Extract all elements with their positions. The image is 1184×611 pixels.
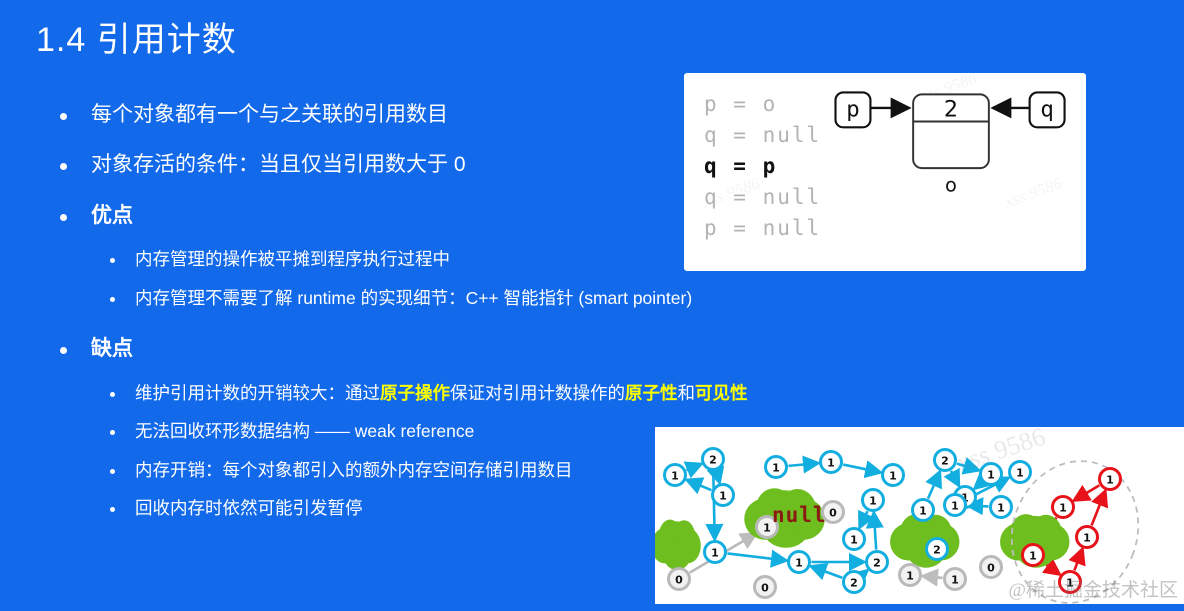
sub-bullet-text: 内存管理的操作被平摊到程序执行过程中: [135, 247, 450, 272]
graph-node: 1: [705, 542, 726, 563]
null-label: null: [772, 503, 827, 527]
graph-node: 1: [789, 552, 810, 573]
bullet-dot-icon: [110, 469, 115, 474]
bullet-dot-icon: [110, 297, 115, 302]
sub-bullet-text: 内存开销：每个对象都引入的额外内存空间存储引用数目: [135, 458, 573, 483]
text-segment: 保证对引用计数操作的: [450, 383, 625, 403]
graph-edge: [974, 482, 981, 488]
graph-node: 2: [867, 552, 888, 573]
highlight-atomic-operation: 原子操作: [380, 383, 450, 403]
bullet-dot-icon: [60, 163, 67, 170]
graph-node: 0: [669, 569, 690, 590]
text-segment: 和: [678, 383, 696, 403]
graph-node: 1: [1053, 497, 1074, 518]
svg-text:2: 2: [850, 577, 858, 590]
svg-text:2: 2: [941, 455, 949, 468]
graph-node: 0: [981, 557, 1002, 578]
sub-bullet-item-atomic: 维护引用计数的开销较大：通过原子操作保证对引用计数操作的原子性和可见性: [110, 381, 860, 406]
graph-edge: [843, 465, 881, 473]
graph-node: 1: [713, 485, 734, 506]
graph-edge: [1074, 485, 1100, 500]
bullet-item-disadvantages: 缺点: [60, 334, 860, 364]
highlight-visibility: 可见性: [695, 383, 748, 403]
svg-text:1: 1: [763, 522, 771, 535]
svg-text:1: 1: [795, 557, 803, 570]
graph-node: 2: [703, 449, 724, 470]
svg-text:1: 1: [1016, 467, 1024, 480]
svg-text:2: 2: [709, 454, 717, 467]
svg-text:0: 0: [675, 574, 683, 587]
pointer-object-diagram: p q 2 o: [684, 73, 1086, 271]
graph-edge: [859, 511, 867, 528]
graph-node: 1: [945, 569, 966, 590]
sub-bullet-text: 内存管理不需要了解 runtime 的实现细节：C++ 智能指针 (smart …: [135, 286, 692, 311]
graph-node: 2: [844, 572, 865, 593]
svg-text:0: 0: [761, 582, 769, 595]
graph-node: 1: [883, 465, 904, 486]
graph-cloud: [655, 520, 701, 571]
graph-edge: [874, 512, 876, 549]
svg-text:1: 1: [719, 490, 727, 503]
svg-text:1: 1: [772, 462, 780, 475]
bullet-dot-icon: [110, 392, 115, 397]
graph-node: 2: [927, 539, 948, 560]
graph-node: 1: [900, 565, 921, 586]
refcount-value: 2: [944, 97, 958, 123]
graph-edge: [951, 471, 959, 486]
svg-text:1: 1: [906, 570, 914, 583]
graph-node: 1: [1100, 469, 1121, 490]
bullet-text: 优点: [91, 201, 133, 231]
graph-node: 2: [935, 450, 956, 471]
svg-text:1: 1: [827, 457, 835, 470]
svg-text:1: 1: [997, 502, 1005, 515]
graph-node: 1: [1023, 545, 1044, 566]
highlight-atomicity: 原子性: [625, 383, 678, 403]
svg-text:1: 1: [1059, 502, 1067, 515]
svg-text:1: 1: [1029, 550, 1037, 563]
svg-text:1: 1: [951, 500, 959, 513]
svg-text:0: 0: [987, 562, 995, 575]
graph-edge: [713, 471, 714, 539]
graph-node: 1: [665, 465, 686, 486]
graph-node: 1: [863, 490, 884, 511]
graph-node: 1: [913, 500, 934, 521]
graph-edge: [928, 471, 940, 498]
sub-bullet-text: 回收内存时依然可能引发暂停: [135, 496, 363, 521]
sub-bullet-item: 内存管理不需要了解 runtime 的实现细节：C++ 智能指针 (smart …: [110, 286, 860, 311]
slide-root: 1.4 引用计数 每个对象都有一个与之关联的引用数目 对象存活的条件：当且仅当引…: [0, 0, 1184, 611]
graph-edge: [1092, 491, 1106, 526]
graph-edge: [788, 463, 818, 466]
svg-text:2: 2: [873, 557, 881, 570]
svg-text:1: 1: [671, 470, 679, 483]
pointer-label-q: q: [1040, 97, 1053, 123]
text-segment: 维护引用计数的开销较大：通过: [135, 383, 380, 403]
svg-text:1: 1: [951, 574, 959, 587]
svg-text:1: 1: [987, 469, 995, 482]
graph-node: 0: [755, 577, 776, 598]
bullet-text: 每个对象都有一个与之关联的引用数目: [91, 100, 448, 130]
graph-edge: [922, 576, 942, 578]
graph-edge: [687, 464, 702, 470]
graph-node: 1: [844, 529, 865, 550]
graph-node: 1: [766, 457, 787, 478]
svg-text:1: 1: [919, 505, 927, 518]
sub-bullet-text: 维护引用计数的开销较大：通过原子操作保证对引用计数操作的原子性和可见性: [135, 381, 748, 406]
graph-edge: [863, 570, 867, 574]
graph-edge: [687, 480, 712, 490]
svg-text:1: 1: [1106, 474, 1114, 487]
graph-edge: [727, 553, 786, 560]
svg-text:1: 1: [850, 534, 858, 547]
graph-edge: [811, 566, 843, 577]
graph-node: 1: [991, 497, 1012, 518]
page-title: 1.4 引用计数: [36, 12, 237, 61]
svg-text:1: 1: [889, 470, 897, 483]
svg-text:1: 1: [869, 495, 877, 508]
object-label: o: [945, 173, 957, 196]
graph-node: 1: [1010, 462, 1031, 483]
sub-bullet-text: 无法回收环形数据结构 —— weak reference: [135, 419, 474, 444]
bullet-text: 对象存活的条件：当且仅当引用数大于 0: [91, 150, 466, 180]
bullet-dot-icon: [60, 347, 67, 354]
bullet-dot-icon: [110, 430, 115, 435]
bullet-text: 缺点: [91, 334, 133, 364]
graph-node: 1: [821, 452, 842, 473]
graph-cloud: [890, 514, 959, 568]
svg-text:1: 1: [711, 547, 719, 560]
graph-edge: [716, 471, 719, 483]
graph-node: 1: [945, 495, 966, 516]
reference-count-diagram-panel: xss 9586 xss 9586 xss 9586 p = o q = nul…: [681, 70, 1089, 274]
svg-text:2: 2: [933, 544, 941, 557]
graph-node: 1: [1077, 527, 1098, 548]
object-graph-panel: 12111111112221111112100001111111 null @稀…: [655, 427, 1184, 604]
bullet-dot-icon: [60, 113, 67, 120]
graph-edge: [1074, 549, 1082, 571]
graph-watermark: @稀土掘金技术社区: [1009, 575, 1179, 602]
bullet-dot-icon: [110, 507, 115, 512]
svg-text:0: 0: [829, 507, 837, 520]
pointer-label-p: p: [846, 97, 859, 123]
bullet-dot-icon: [110, 258, 115, 263]
bullet-dot-icon: [60, 214, 67, 221]
svg-text:1: 1: [1083, 532, 1091, 545]
